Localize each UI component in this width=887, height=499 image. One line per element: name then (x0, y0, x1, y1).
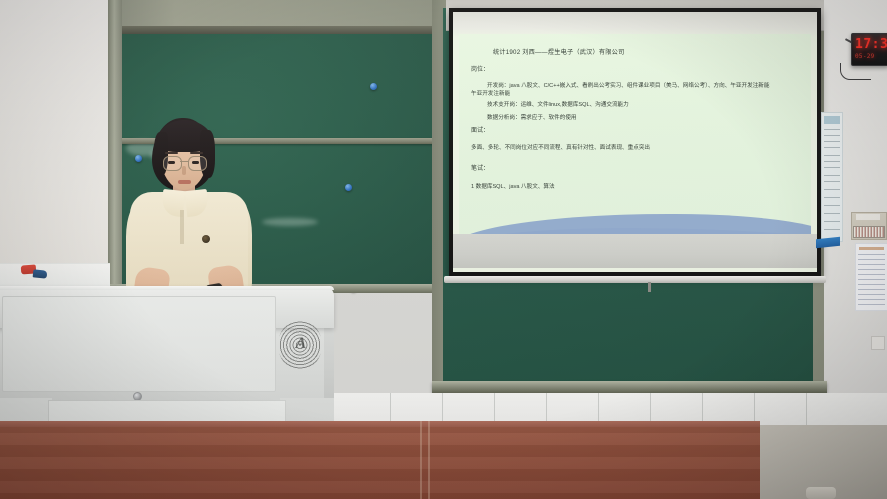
projection-screen[interactable]: 统计1902 刘西——煜生电子（武汉）有限公司 岗位： 开发岗：java 八股文… (449, 8, 821, 276)
magnet-icon (370, 83, 377, 90)
platform-seam (428, 421, 430, 499)
classroom-scene: 统计1902 刘西——煜生电子（武汉）有限公司 岗位： 开发岗：java 八股文… (0, 0, 887, 499)
wall-notice-sheet (855, 243, 887, 311)
slide-title: 统计1902 刘西——煜生电子（武汉）有限公司 (493, 49, 624, 56)
led-clock: 17:3 05-29 (851, 33, 887, 66)
slide-bullet-3: 数据分析岗：需求应于、软件的使用 (487, 115, 577, 121)
projection-screen-surface: 统计1902 刘西——煜生电子（武汉）有限公司 岗位： 开发岗：java 八股文… (453, 12, 817, 272)
screen-pull-hook[interactable] (648, 282, 651, 292)
chalk-smudge (262, 218, 318, 226)
wall-switch-plate[interactable] (871, 336, 885, 350)
panel-breaker-switches[interactable] (853, 226, 885, 238)
presenter (118, 118, 258, 308)
slide-bullet-4: 多面、多轮、不同岗位对应不同流程、真有针对性、面试表现、重点突出 (471, 145, 650, 151)
eye-left (168, 161, 175, 164)
slide-section-3-label: 笔试： (471, 166, 489, 173)
panel-label (856, 214, 880, 220)
nose (182, 166, 186, 175)
blackboard-top-rail-left (122, 26, 434, 34)
screen-blank-area (453, 234, 817, 268)
class-schedule-poster (821, 112, 843, 242)
slide-section-2-label: 面试： (471, 128, 489, 135)
podium-front-door[interactable] (2, 296, 276, 392)
blackboard-chalk-tray-right (432, 381, 827, 393)
slide-bullet-2: 技术支开岗：运维、文件linux,数据库SQL、沟通交流能力 (487, 102, 629, 108)
eyebrow-right (190, 152, 203, 154)
platform-seam (420, 421, 422, 499)
eyebrow-left (165, 152, 178, 154)
clock-time-display: 17:3 (855, 37, 887, 52)
slide-bullet-1: 开发岗：java 八股文、C/C++嵌入式、看刷出公考实习、组件课业项目（美马、… (487, 83, 770, 89)
screen-weight-bar[interactable] (444, 276, 826, 283)
platform-wood-grain (0, 421, 760, 499)
left-wall (0, 0, 118, 300)
speaker-brand-logo-icon: A (292, 333, 310, 355)
shirt-logo-icon (202, 235, 210, 243)
slide-bullet-1-continued: 午亚开发注新能 (471, 91, 510, 97)
slide-bullet-5: 1 数据库SQL、java 八股文、算法 (471, 184, 555, 190)
shirt-placket (180, 210, 184, 244)
podium-top-edge (0, 286, 334, 290)
floor-object (806, 487, 836, 499)
poster-header (824, 116, 840, 124)
glasses-bridge (180, 161, 188, 162)
presentation-slide: 统计1902 刘西——煜生电子（武汉）有限公司 岗位： 开发岗：java 八股文… (459, 34, 811, 242)
notice-title-bar (859, 247, 884, 250)
mouth (178, 180, 191, 184)
eye-right (192, 161, 199, 164)
slide-section-1-label: 岗位： (471, 67, 489, 74)
blue-object (33, 269, 48, 278)
clock-date-display: 05-29 (855, 53, 875, 60)
magnet-icon (345, 184, 352, 191)
